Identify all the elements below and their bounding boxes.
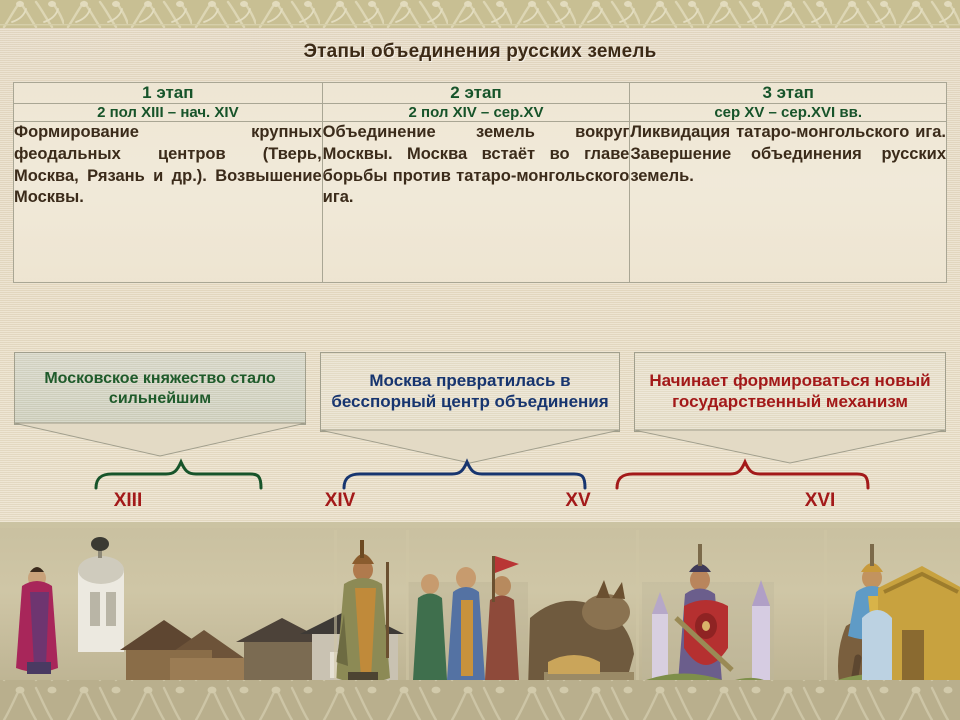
stage-header-2: 2 этап [322,83,630,104]
century-label-xiii: XIII [78,490,178,512]
table-row-body: Формирование крупных феодальных центров … [14,122,947,283]
period-header-1: 2 пол XIII – нач. XIV [14,104,323,122]
period-header-3: сер XV – сер.XVI вв. [630,104,947,122]
brace-xiv-xv-icon [344,462,585,488]
stage-description-1: Формирование крупных феодальных центров … [14,122,323,283]
top-ornament-band [0,0,960,28]
table-row-period-headers: 2 пол XIII – нач. XIV 2 пол XIV – сер.XV… [14,104,947,122]
stages-table: 1 этап 2 этап 3 этап 2 пол XIII – нач. X… [13,82,947,283]
century-label-xvi: XVI [770,490,870,512]
callout-1-text: Московское княжество стало сильнейшим [14,352,306,425]
callout-box-1: Московское княжество стало сильнейшим [14,352,306,423]
century-timeline: XIII XIV XV XVI [0,452,960,522]
callout-3-text: Начинает формироваться новый государстве… [634,352,946,432]
stage-header-3: 3 этап [630,83,947,104]
callout-2-text: Москва превратилась в бесспорный центр о… [320,352,620,432]
historical-illustration-strip [0,522,960,720]
period-header-2: 2 пол XIV – сер.XV [322,104,630,122]
callout-box-2: Москва превратилась в бесспорный центр о… [320,352,620,430]
slide-title: Этапы объединения русских земель [0,41,960,63]
brace-xiii-icon [96,462,261,488]
stage-header-1: 1 этап [14,83,323,104]
slide-canvas: Этапы объединения русских земель 1 этап … [0,0,960,720]
stage-description-2: Объединение земель вокруг Москвы. Москва… [322,122,630,283]
century-label-xiv: XIV [290,490,390,512]
century-label-xv: XV [528,490,628,512]
brace-xvi-icon [617,462,868,488]
callout-box-3: Начинает формироваться новый государстве… [634,352,946,430]
table-row-stage-headers: 1 этап 2 этап 3 этап [14,83,947,104]
stage-description-3: Ликвидация татаро-монгольского ига. Заве… [630,122,947,283]
